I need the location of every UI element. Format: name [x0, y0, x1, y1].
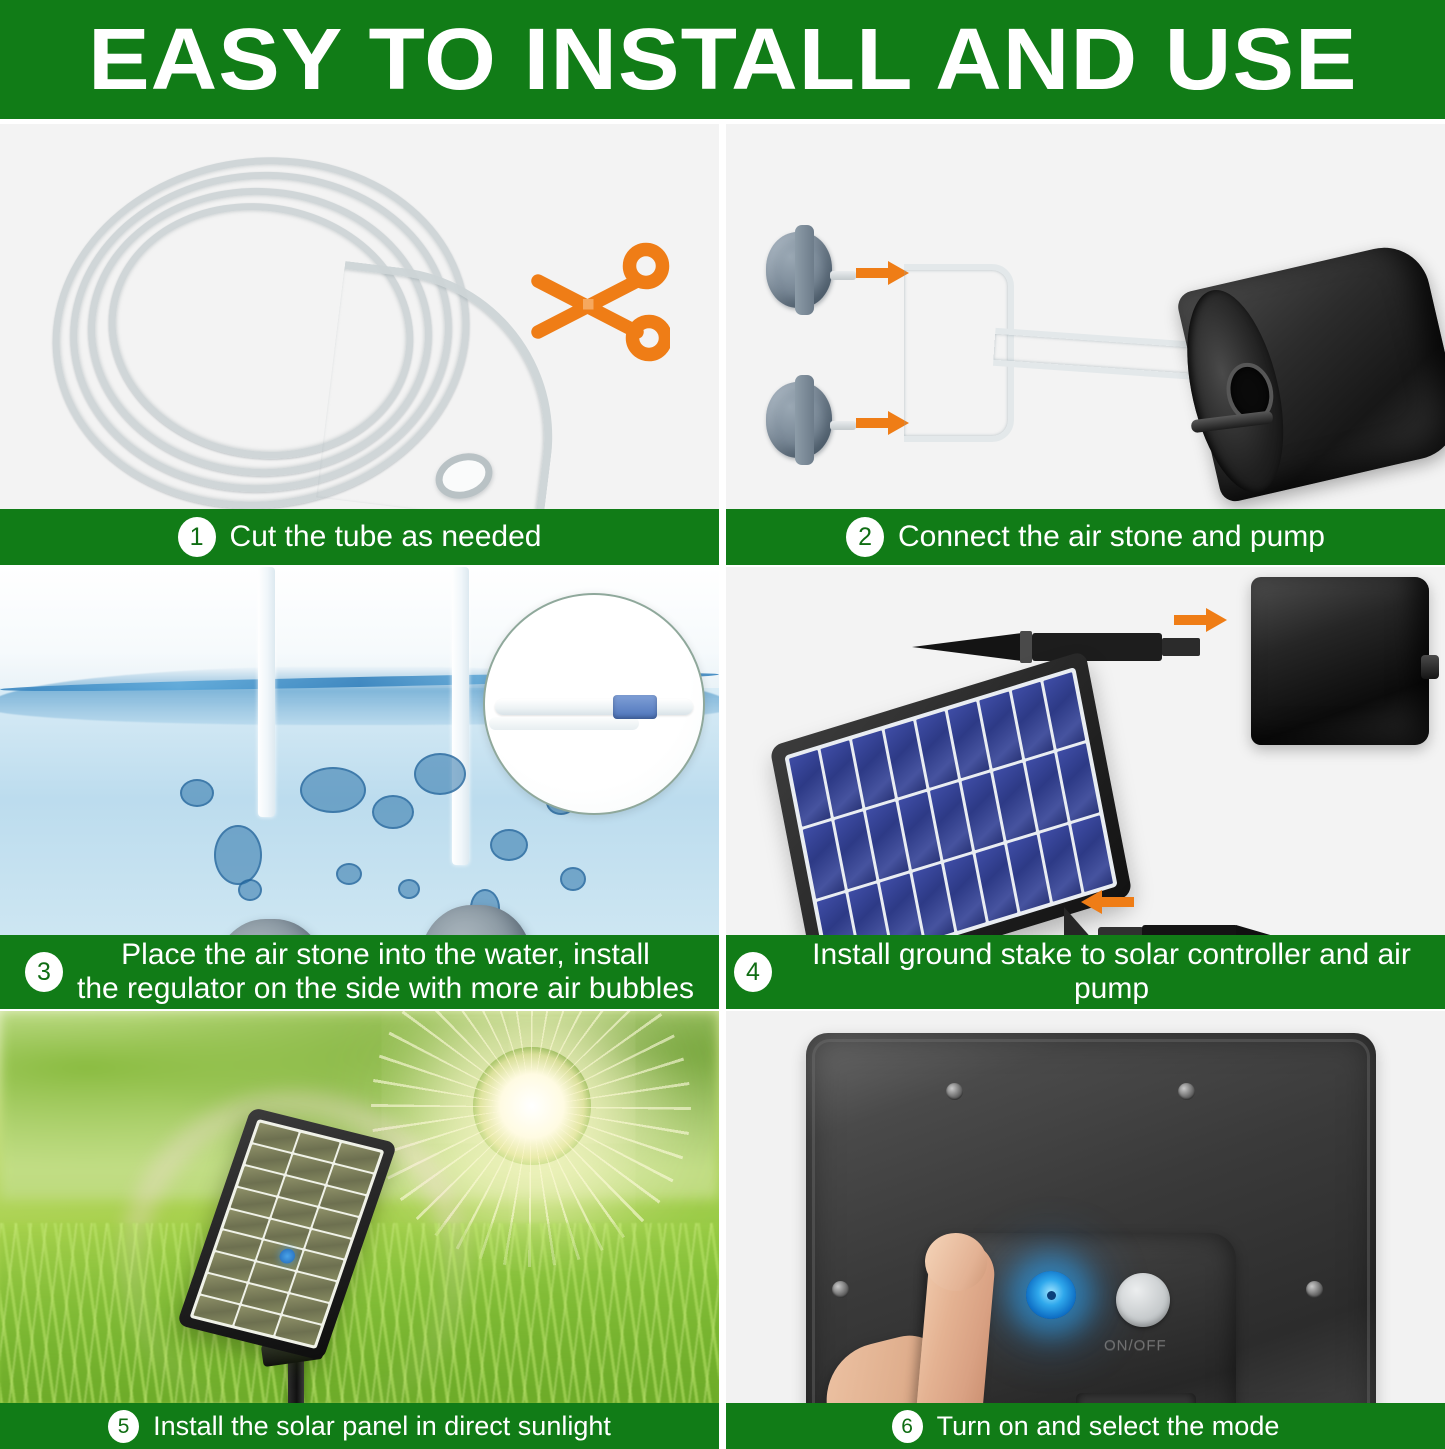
onoff-embossed-label: ON/OFF [1104, 1337, 1167, 1354]
sun-icon [473, 1047, 591, 1165]
step-card-6: ON/OFF 6 Turn on and select the mode [726, 1011, 1445, 1449]
bubble [180, 779, 214, 807]
step-5-caption-text: Install the solar panel in direct sunlig… [153, 1411, 611, 1441]
orange-arrow-icon-left [1080, 889, 1134, 915]
step-number-badge-6: 6 [892, 1410, 923, 1443]
air-stone-nozzle-bottom [830, 421, 856, 430]
step-number-badge-1: 1 [178, 517, 216, 557]
steps-grid: 1 Cut the tube as needed [0, 124, 1445, 1445]
inset-tube [495, 699, 693, 715]
bubble [300, 767, 366, 813]
step-2-illustration [726, 124, 1445, 509]
air-stone-icon-bottom [766, 382, 832, 458]
step-3-caption-text: Place the air stone into the water, inst… [77, 938, 694, 1005]
step-2-caption-bar: 2 Connect the air stone and pump [726, 509, 1445, 565]
orange-arrow-icon-top [856, 260, 910, 286]
step-number-badge-4: 4 [734, 952, 772, 992]
tube-drop-right [452, 567, 469, 865]
step-number-badge-5: 5 [108, 1410, 139, 1443]
step-5-illustration [0, 1011, 719, 1403]
bubble [398, 879, 420, 899]
power-led-button[interactable] [1026, 1271, 1076, 1319]
step-3-caption-bar: 3 Place the air stone into the water, in… [0, 935, 719, 1009]
pump-face [1170, 281, 1300, 502]
bubble [560, 867, 586, 891]
screw-icon [1306, 1281, 1323, 1298]
page-title: EASY TO INSTALL AND USE [88, 16, 1358, 103]
step-6-caption-bar: 6 Turn on and select the mode [726, 1403, 1445, 1449]
infographic-page: EASY TO INSTALL AND USE [0, 0, 1445, 1445]
air-stone-nozzle-top [830, 271, 856, 280]
screw-icon [832, 1281, 849, 1298]
tube-drop-left [258, 567, 275, 817]
step-number-badge-2: 2 [846, 517, 884, 557]
bubble [214, 825, 262, 885]
step-2-caption-text: Connect the air stone and pump [898, 520, 1325, 554]
vent-slot [1076, 1393, 1196, 1403]
step-1-caption-text: Cut the tube as needed [230, 520, 542, 554]
step-3-illustration [0, 567, 719, 935]
orange-arrow-icon-bottom [856, 410, 910, 436]
step-card-1: 1 Cut the tube as needed [0, 124, 719, 565]
step-4-illustration [726, 567, 1445, 935]
step-3-caption-line-1: Place the air stone into the water, inst… [121, 938, 650, 971]
solar-panel-cells [784, 667, 1117, 935]
screw-icon [946, 1083, 963, 1100]
black-air-pump-icon [1175, 239, 1445, 505]
step-6-illustration: ON/OFF [726, 1011, 1445, 1403]
step-1-illustration [0, 124, 719, 509]
bubble [336, 863, 362, 885]
bubble [372, 795, 414, 829]
bubble [238, 879, 262, 901]
step-4-caption-text: Install ground stake to solar controller… [786, 938, 1437, 1005]
header-banner: EASY TO INSTALL AND USE [0, 0, 1445, 119]
step-card-2: 2 Connect the air stone and pump [726, 124, 1445, 565]
pump-hook-tab [1421, 655, 1439, 679]
bubble [414, 753, 466, 795]
solar-panel-icon [769, 650, 1132, 935]
step-card-3: 3 Place the air stone into the water, in… [0, 567, 719, 1009]
step-4-caption-bar: 4 Install ground stake to solar controll… [726, 935, 1445, 1009]
step-number-badge-3: 3 [25, 952, 63, 992]
led-core [1047, 1291, 1056, 1300]
regulator-slider [613, 695, 657, 719]
air-stone-icon-top [766, 232, 832, 308]
orange-arrow-icon-right [1174, 607, 1228, 633]
bubble [490, 829, 528, 861]
step-3-caption-line-2: the regulator on the side with more air … [77, 972, 694, 1005]
regulator-detail-inset [483, 593, 705, 815]
step-5-caption-bar: 5 Install the solar panel in direct sunl… [0, 1403, 719, 1449]
step-card-5: 5 Install the solar panel in direct sunl… [0, 1011, 719, 1449]
scissors-icon [520, 224, 670, 374]
step-6-caption-text: Turn on and select the mode [937, 1411, 1280, 1441]
step-card-4: 4 Install ground stake to solar controll… [726, 567, 1445, 1009]
black-air-pump-cylinder-icon [1251, 577, 1429, 745]
mode-button[interactable] [1116, 1273, 1170, 1327]
screw-icon [1178, 1083, 1195, 1100]
ground-stake-lower-icon [1098, 915, 1288, 935]
step-1-caption-bar: 1 Cut the tube as needed [0, 509, 719, 565]
